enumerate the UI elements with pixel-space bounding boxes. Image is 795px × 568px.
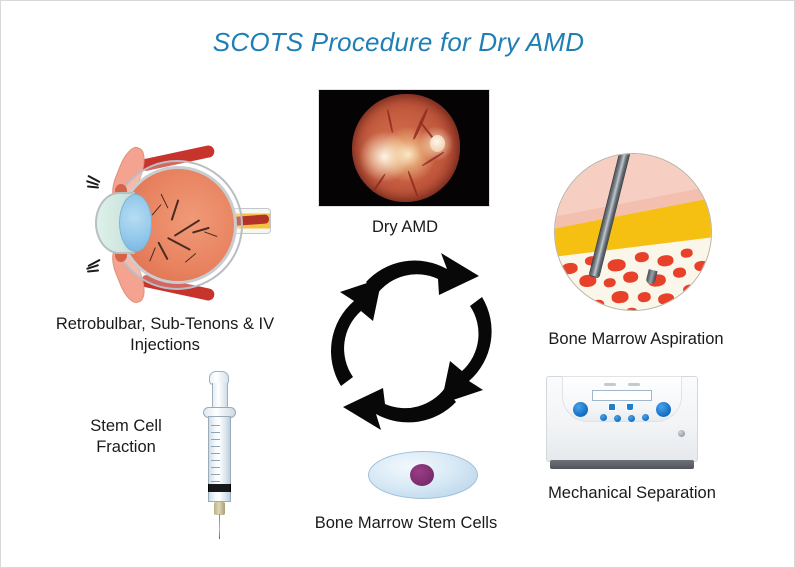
caption-bone-marrow-stem-cells: Bone Marrow Stem Cells — [288, 513, 524, 534]
slide-canvas: SCOTS Procedure for Dry AMD Dry AMD — [0, 0, 795, 568]
caption-syringe-line2: Fraction — [61, 437, 191, 458]
caption-eye-line2: Injections — [15, 335, 315, 356]
centrifuge-figure — [546, 376, 698, 474]
caption-eye-line1: Retrobulbar, Sub-Tenons & IV — [15, 314, 315, 335]
syringe-needle — [219, 514, 221, 539]
device-base — [550, 460, 694, 469]
retina-disc — [352, 94, 460, 202]
page-title: SCOTS Procedure for Dry AMD — [1, 27, 795, 58]
device-display — [592, 390, 652, 401]
syringe-plunger-seal — [208, 484, 231, 492]
caption-stem-cell-fraction: Stem Cell Fraction — [61, 416, 191, 458]
device-icon-home — [608, 403, 616, 411]
caption-eye-injections: Retrobulbar, Sub-Tenons & IV Injections — [15, 314, 315, 356]
syringe-plunger-rod — [212, 383, 228, 409]
cell-nucleus — [410, 464, 434, 486]
device-knob-right[interactable] — [656, 402, 671, 417]
device-icon-cup — [626, 403, 634, 411]
device-button-2[interactable] — [614, 415, 621, 422]
device-button-1[interactable] — [600, 414, 607, 421]
device-knob-left[interactable] — [573, 402, 588, 417]
cycle-arrows-svg — [319, 247, 505, 435]
device-button-4[interactable] — [642, 414, 649, 421]
caption-bone-marrow-aspiration: Bone Marrow Aspiration — [523, 329, 749, 350]
syringe-figure — [197, 371, 243, 539]
caption-syringe-line1: Stem Cell — [61, 416, 191, 437]
device-indicator-light — [678, 430, 685, 437]
caption-mechanical-separation: Mechanical Separation — [519, 483, 745, 504]
device-button-3[interactable] — [628, 415, 635, 422]
fundus-photograph — [318, 89, 490, 207]
lens — [119, 194, 152, 252]
eye-cross-section-figure — [71, 146, 271, 306]
caption-dry-amd: Dry AMD — [330, 217, 480, 238]
cycle-arrows-diagram — [319, 247, 505, 435]
bone-marrow-aspiration-figure — [554, 153, 712, 311]
stem-cell-figure — [368, 451, 478, 499]
